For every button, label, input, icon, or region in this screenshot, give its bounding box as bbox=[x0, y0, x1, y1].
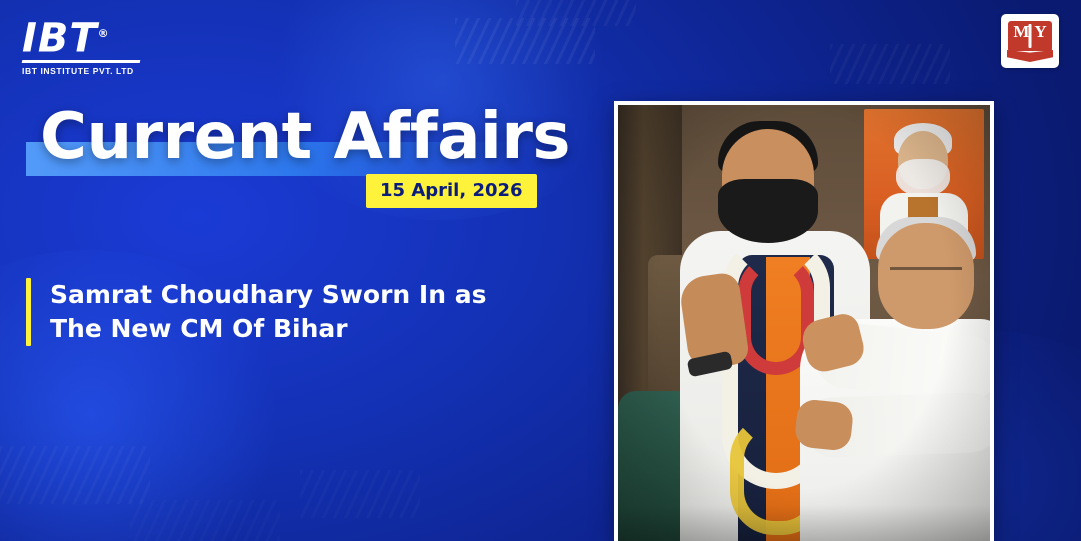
ibt-logo[interactable]: IBT® IBT INSTITUTE PVT. LTD bbox=[22, 14, 150, 76]
photo-vignette bbox=[618, 105, 990, 541]
headline-accent-bar bbox=[26, 278, 31, 346]
current-affairs-banner: IBT® IBT INSTITUTE PVT. LTD MY Current A… bbox=[0, 0, 1081, 541]
ibt-logo-label: IBT bbox=[22, 15, 98, 61]
decor-stripes-bottom-center bbox=[300, 470, 420, 518]
page-title: Current Affairs bbox=[40, 100, 570, 174]
decor-stripes-bottom-left bbox=[0, 446, 150, 504]
news-photo-frame bbox=[614, 101, 994, 541]
decor-stripes-top-right bbox=[830, 44, 950, 84]
date-badge: 15 April, 2026 bbox=[366, 174, 537, 208]
ibt-logo-text: IBT® bbox=[22, 14, 150, 58]
decor-stripes-top bbox=[516, 0, 636, 26]
decor-stripes-bottom bbox=[130, 500, 280, 541]
my-logo-letters: MY bbox=[1001, 22, 1059, 42]
registered-mark-icon: ® bbox=[98, 27, 110, 40]
my-logo[interactable]: MY bbox=[1001, 14, 1059, 68]
ibt-logo-subtitle: IBT INSTITUTE PVT. LTD bbox=[22, 66, 150, 76]
headline-block: Samrat Choudhary Sworn In as The New CM … bbox=[26, 278, 510, 346]
news-photo bbox=[618, 105, 990, 541]
book-pages-icon bbox=[1007, 50, 1053, 62]
photo-bottom-fade bbox=[618, 505, 990, 541]
ibt-logo-underline bbox=[22, 60, 141, 63]
decor-stripes-top-center bbox=[455, 18, 595, 64]
headline-text: Samrat Choudhary Sworn In as The New CM … bbox=[50, 278, 510, 346]
